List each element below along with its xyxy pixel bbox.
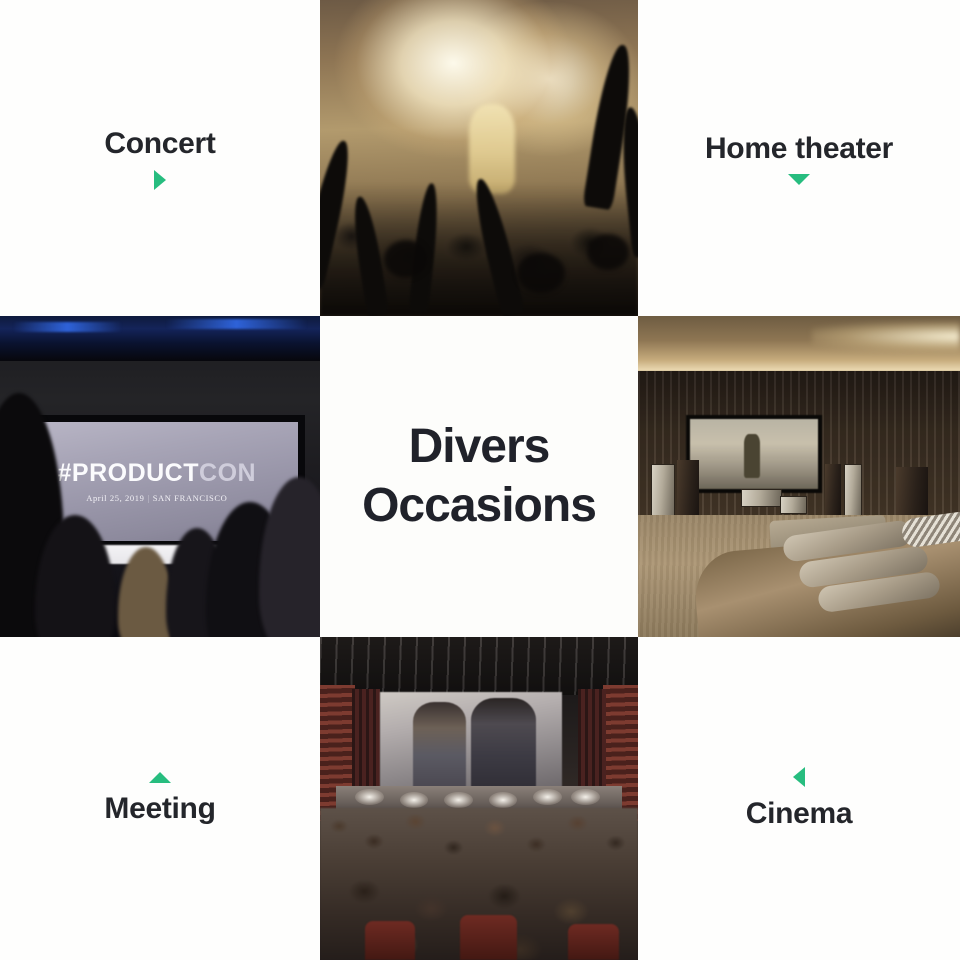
meeting-screen-separator: | (147, 493, 149, 503)
home-theater-screen (690, 419, 819, 490)
concert-photo (320, 0, 638, 316)
concert-photo-image (320, 0, 638, 316)
meeting-screen-title: #PRODUCTCON (58, 459, 257, 488)
cinema-stage-light-6 (571, 789, 600, 805)
headline-line-1: Divers (362, 418, 596, 477)
cinema-seat-1 (365, 921, 416, 960)
cinema-stage-light-3 (444, 792, 473, 808)
meeting-ceiling-light-1 (13, 322, 122, 332)
label-cell-cinema[interactable]: Cinema (638, 637, 960, 960)
concert-performer (469, 104, 515, 194)
meeting-ceiling-light-2 (166, 319, 307, 329)
headline-cell: Divers Occasions (320, 316, 638, 637)
home-theater-photo-image (638, 316, 960, 637)
cinema-stage-light-1 (355, 789, 384, 805)
meeting-screen-title-light: CON (199, 459, 256, 487)
meeting-screen-subtitle: April 25, 2019|SAN FRANCISCO (86, 493, 227, 503)
cinema-screen-figure-1 (413, 702, 466, 790)
home-theater-speaker-right (844, 464, 862, 521)
cinema-screen-figure-2 (471, 698, 536, 790)
meeting-photo: #PRODUCTCON April 25, 2019|SAN FRANCISCO (0, 316, 320, 637)
concert-head-2 (517, 253, 565, 293)
cinema-photo (320, 637, 638, 960)
cinema-screen (380, 692, 561, 792)
arrow-up-icon (149, 772, 171, 783)
label-cell-meeting[interactable]: Meeting (0, 637, 320, 960)
home-theater-equipment-rack (896, 467, 928, 515)
meeting-photo-image: #PRODUCTCON April 25, 2019|SAN FRANCISCO (0, 316, 320, 637)
home-theater-photo (638, 316, 960, 637)
home-theater-cove-light (812, 322, 960, 351)
cinema-photo-image (320, 637, 638, 960)
home-theater-speaker-center-dark (825, 464, 841, 515)
meeting-screen-date: April 25, 2019 (86, 493, 144, 503)
arrow-down-icon (788, 174, 810, 185)
label-cell-home-theater[interactable]: Home theater (638, 0, 960, 316)
cinema-seat-2 (460, 915, 517, 960)
occasions-grid: Concert Home theater #PRODUCTCON (0, 0, 960, 960)
meeting-screen-title-bold: #PRODUCT (58, 459, 200, 487)
home-theater-subwoofer (780, 496, 808, 514)
cinema-stage-light-5 (533, 789, 562, 805)
concert-label: Concert (104, 127, 215, 160)
headline-line-2: Occasions (362, 477, 596, 536)
page-title: Divers Occasions (362, 418, 596, 535)
home-theater-label: Home theater (705, 132, 893, 165)
meeting-label: Meeting (104, 792, 215, 825)
concert-head-3 (587, 234, 629, 270)
meeting-screen-city: SAN FRANCISCO (153, 493, 228, 503)
cinema-seat-3 (568, 924, 619, 960)
arrow-left-icon (793, 767, 805, 787)
label-cell-concert[interactable]: Concert (0, 0, 320, 316)
cinema-ceiling (320, 637, 638, 695)
home-theater-center-speaker (741, 489, 782, 507)
arrow-right-icon (154, 170, 166, 190)
cinema-label: Cinema (746, 797, 853, 830)
concert-head-1 (384, 240, 428, 278)
